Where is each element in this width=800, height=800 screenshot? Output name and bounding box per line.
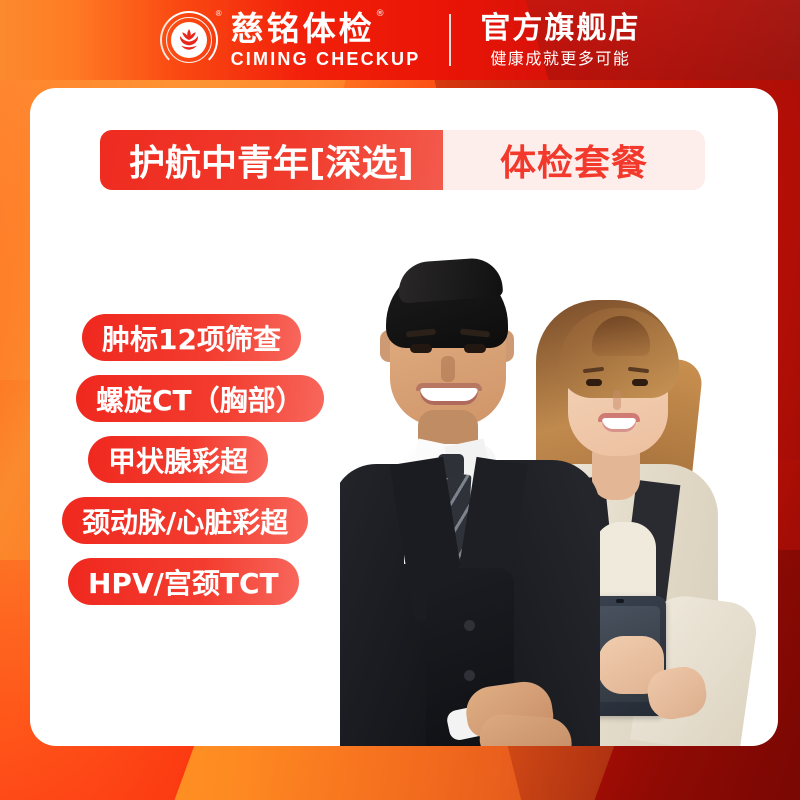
man-eye-left (410, 344, 432, 353)
man-hair-sweep (397, 256, 504, 303)
brand-name-cn: 慈铭体检® (231, 12, 375, 45)
man-vest-button-bottom (464, 670, 475, 681)
package-title-banner: 护航中青年[深选] 体检套餐 (100, 130, 705, 190)
man-eye-right (464, 344, 486, 353)
package-title-right-panel: 体检套餐 (443, 130, 705, 190)
feature-pill-spiral-ct[interactable]: 螺旋CT（胸部） (76, 375, 324, 422)
store-tagline: 健康成就更多可能 (490, 51, 630, 67)
brand-registered-mark: ® (376, 10, 385, 19)
man-smile (420, 388, 478, 405)
woman-eye-left (586, 379, 602, 386)
content-card: 护航中青年[深选] 体检套餐 (30, 88, 778, 746)
models-photo (340, 238, 778, 746)
feature-pill-thyroid-ultrasound[interactable]: 甲状腺彩超 (88, 436, 268, 483)
feature-pill-carotid-heart-ultrasound[interactable]: 颈动脉/心脏彩超 (62, 497, 308, 544)
woman-nose (613, 390, 621, 410)
woman-eye-right (632, 379, 648, 386)
woman-smile (602, 418, 636, 432)
package-title-right-text: 体检套餐 (500, 134, 648, 186)
brand-name-cn-text: 慈铭体检 (231, 9, 375, 48)
tablet-camera (616, 599, 624, 603)
package-title-left-text: 护航中青年[深选] (129, 134, 414, 186)
brand-header-bar: ® 慈铭体检® CIMING CHECKUP 官方旗舰店 健康成就更多可能 (0, 0, 800, 80)
store-title: 官方旗舰店 (480, 14, 640, 44)
man-vest-button-top (464, 620, 475, 631)
lotus-icon (171, 22, 207, 58)
header-content: ® 慈铭体检® CIMING CHECKUP 官方旗舰店 健康成就更多可能 (160, 11, 641, 69)
package-title-left-panel: 护航中青年[深选] (100, 130, 443, 190)
brand-name-en: CIMING CHECKUP (231, 50, 421, 68)
promo-poster: ® 慈铭体检® CIMING CHECKUP 官方旗舰店 健康成就更多可能 护航… (0, 0, 800, 800)
logo-registered-mark: ® (216, 10, 222, 18)
header-divider (449, 14, 451, 66)
store-badge-block: 官方旗舰店 健康成就更多可能 (480, 14, 640, 67)
brand-name-block: 慈铭体检® CIMING CHECKUP (231, 12, 421, 68)
man-nose (441, 356, 455, 382)
ciming-lotus-circle-logo-icon: ® (160, 11, 218, 69)
feature-pill-tumor-markers[interactable]: 肿标12项筛查 (82, 314, 301, 361)
feature-pill-hpv-tct[interactable]: HPV/宫颈TCT (68, 558, 299, 605)
